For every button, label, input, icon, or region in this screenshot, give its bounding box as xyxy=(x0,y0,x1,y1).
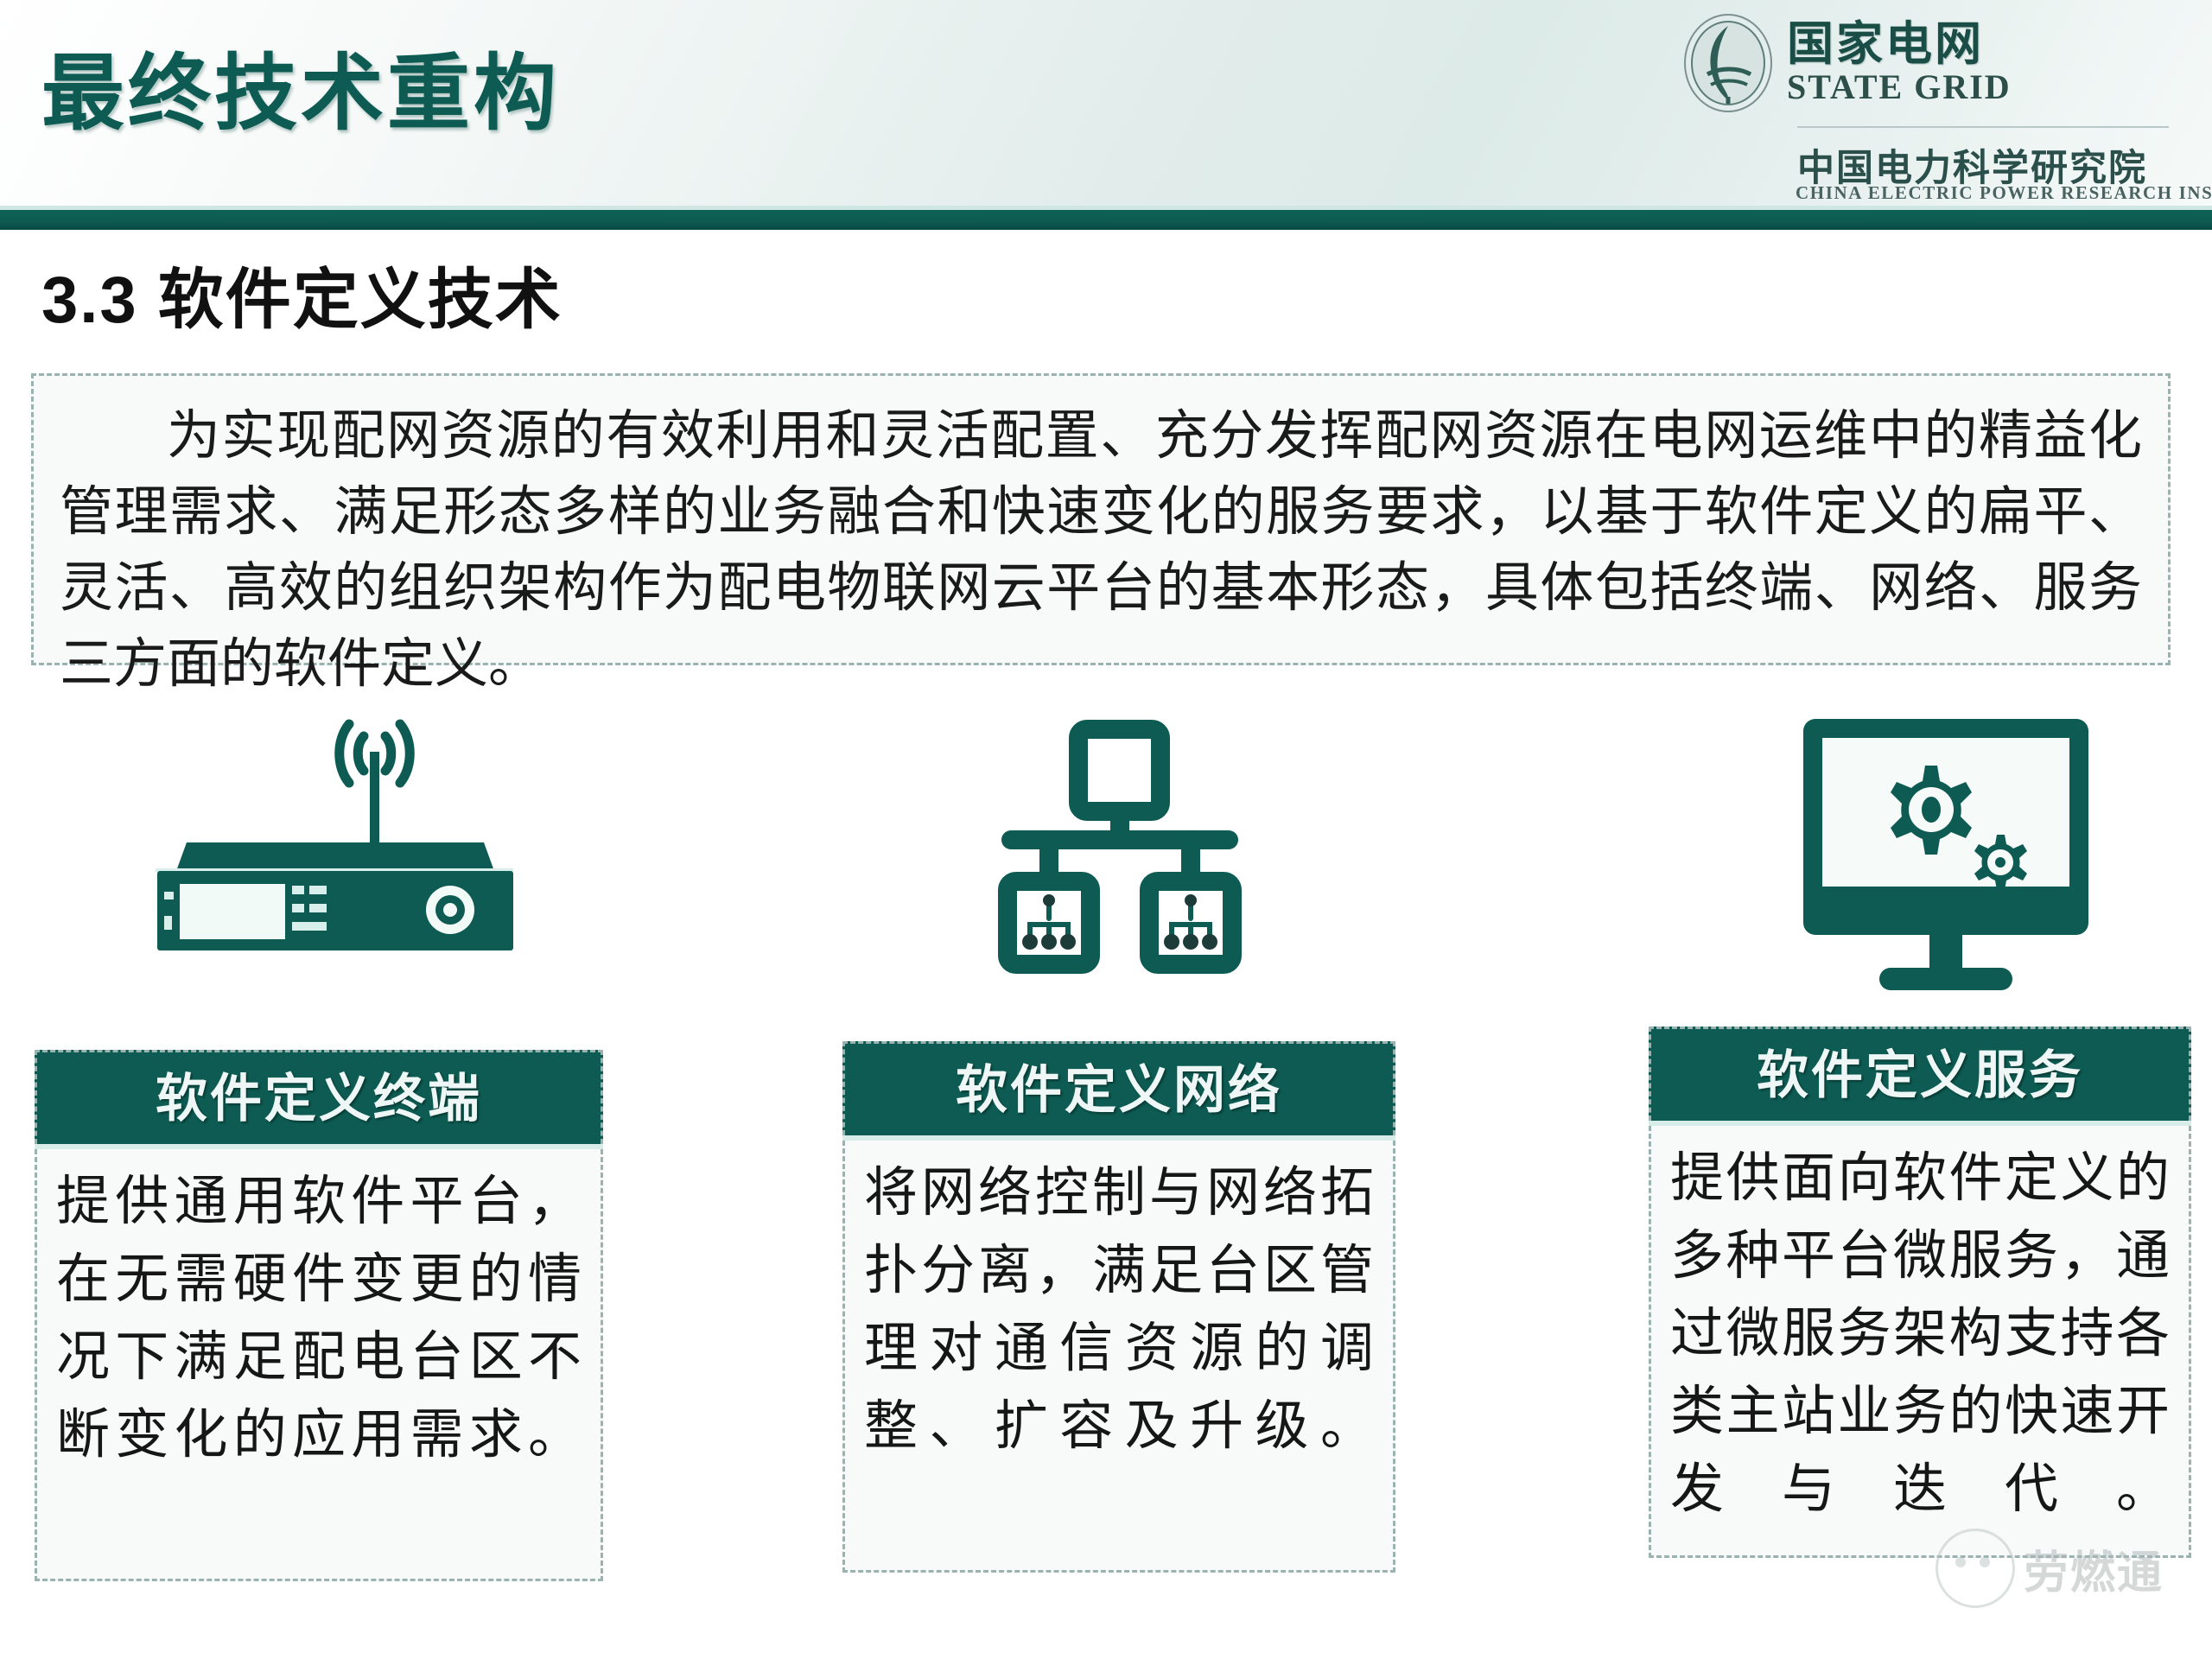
intro-paragraph-text: 为实现配网资源的有效利用和灵活配置、充分发挥配网资源在电网运维中的精益化管理需求… xyxy=(34,376,2168,702)
brand-logo-block: 国家电网 STATE GRID 中国电力科学研究院 CHINA ELECTRIC… xyxy=(1669,7,2196,206)
card-software-defined-service: 软件定义服务 提供面向软件定义的多种平台微服务，通过微服务架构支持各类主站业务的… xyxy=(1649,1027,2191,1558)
section-heading: 3.3 软件定义技术 xyxy=(41,246,563,341)
card-title: 软件定义网络 xyxy=(842,1041,1395,1135)
card-body-text: 提供通用软件平台，在无需硬件变更的情况下满足配电台区不断变化的应用需求。 xyxy=(35,1149,603,1581)
card-title: 软件定义终端 xyxy=(35,1050,603,1144)
brand-divider xyxy=(1797,126,2169,128)
brand-company-row: 国家电网 STATE GRID xyxy=(1669,12,2012,114)
router-terminal-icon xyxy=(121,709,553,994)
brand-institute-en: CHINA ELECTRIC POWER RESEARCH INSTITUTE xyxy=(1796,182,2212,204)
monitor-gears-icon xyxy=(1754,709,2160,994)
brand-company-cn: 国家电网 xyxy=(1787,20,2012,69)
card-body-text: 提供面向软件定义的多种平台微服务，通过微服务架构支持各类主站业务的快速开发与迭代… xyxy=(1649,1126,2191,1558)
page-title: 最终技术重构 xyxy=(41,26,560,146)
card-body-text: 将网络控制与网络拓扑分离，满足台区管理对通信资源的调整、扩容及升级。 xyxy=(842,1141,1395,1573)
network-topology-icon xyxy=(929,709,1309,994)
state-grid-emblem-icon xyxy=(1681,12,1775,114)
card-title: 软件定义服务 xyxy=(1649,1027,2191,1121)
card-software-defined-network: 软件定义网络 将网络控制与网络拓扑分离，满足台区管理对通信资源的调整、扩容及升级… xyxy=(842,1041,1395,1573)
header-rule xyxy=(0,210,2212,230)
intro-paragraph-box: 为实现配网资源的有效利用和灵活配置、充分发挥配网资源在电网运维中的精益化管理需求… xyxy=(31,373,2171,665)
card-software-defined-terminal: 软件定义终端 提供通用软件平台，在无需硬件变更的情况下满足配电台区不断变化的应用… xyxy=(35,1050,603,1581)
brand-company-en: STATE GRID xyxy=(1787,68,2012,106)
slide-header: 最终技术重构 国家电网 STATE GRID 中国电力科学研究院 CHINA E… xyxy=(0,0,2212,216)
